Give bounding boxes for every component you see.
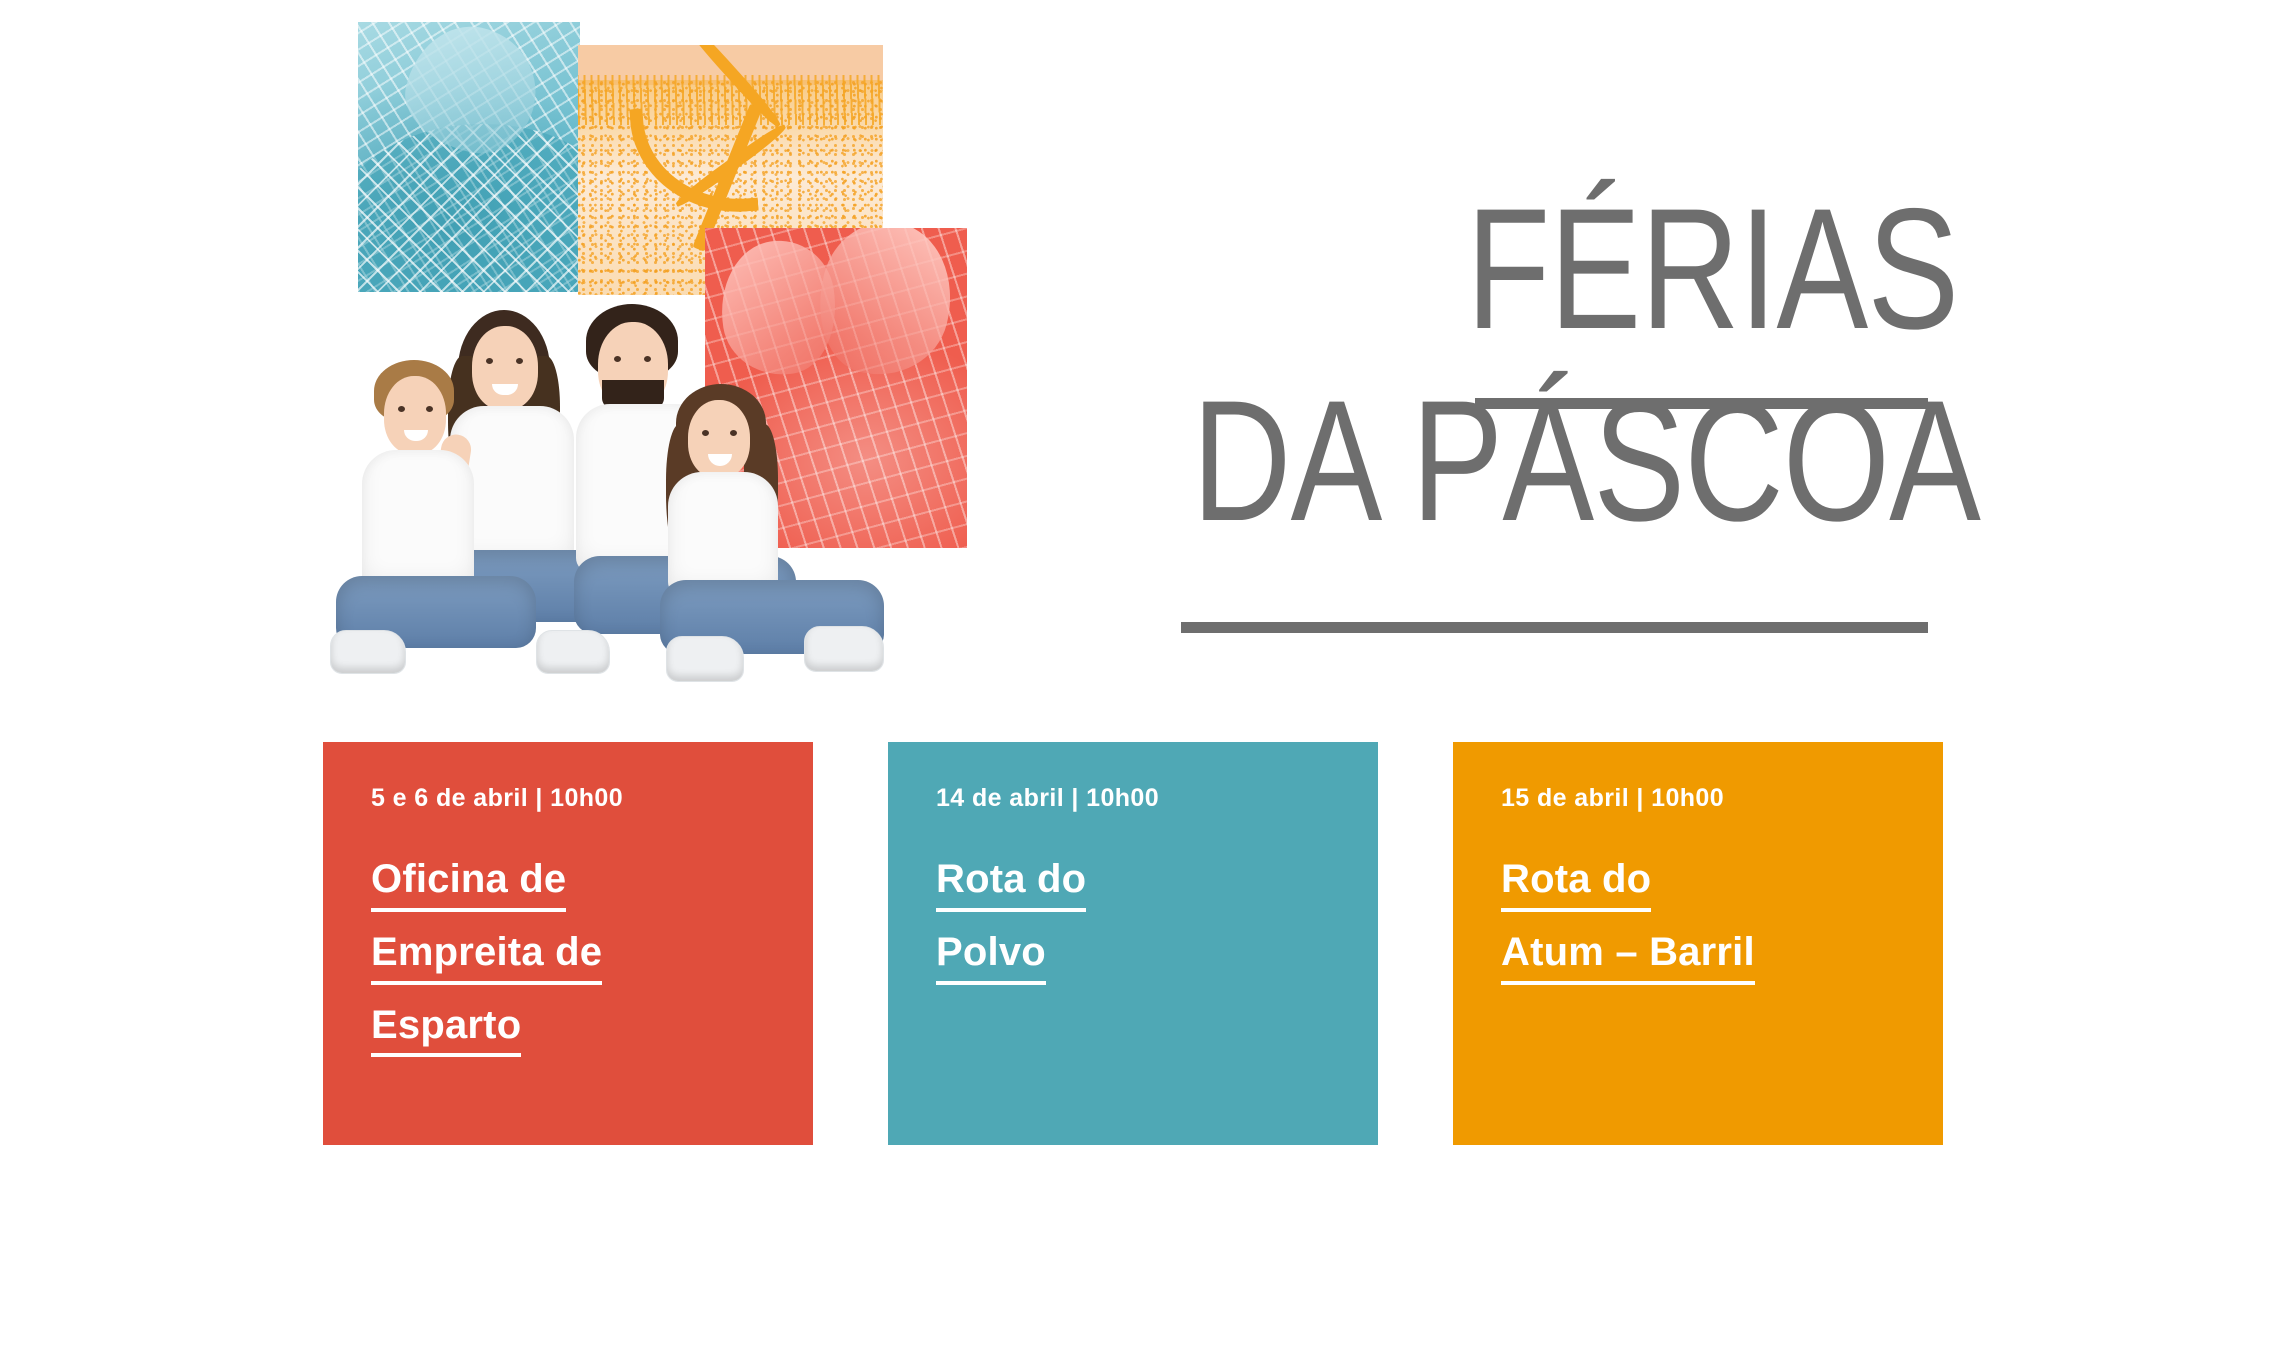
title-underline-2 — [1181, 622, 1928, 633]
event-title-line: Rota do — [936, 857, 1086, 912]
event-title: Oficina de Empreita de Esparto — [371, 857, 813, 1057]
event-title-line: Polvo — [936, 930, 1046, 985]
eye-right — [644, 356, 651, 362]
torso-shirt — [362, 450, 474, 590]
torso-shirt — [668, 472, 778, 596]
event-title-line: Oficina de — [371, 857, 566, 912]
event-title-line: Empreita de — [371, 930, 602, 985]
event-date: 14 de abril | 10h00 — [936, 784, 1378, 813]
eye-left — [614, 356, 621, 362]
event-date: 5 e 6 de abril | 10h00 — [371, 784, 813, 813]
shoe-right — [804, 626, 884, 672]
shoe-right — [536, 630, 610, 674]
event-title: Rota do Atum – Barril — [1501, 857, 1943, 985]
event-title-line: Atum – Barril — [1501, 930, 1755, 985]
shoe-left — [330, 630, 406, 674]
shoe-left — [666, 636, 744, 682]
head — [472, 326, 538, 410]
event-cards: 5 e 6 de abril | 10h00 Oficina de Emprei… — [0, 742, 2293, 1145]
title-underline-1 — [1475, 398, 1928, 409]
footer-logos: Organização: Cofinanciado por: município… — [0, 1160, 2293, 1360]
event-title-line: Esparto — [371, 1003, 521, 1058]
eye-right — [730, 430, 737, 436]
head — [688, 400, 750, 478]
event-card-rota-atum-barril[interactable]: 15 de abril | 10h00 Rota do Atum – Barri… — [1453, 742, 1943, 1145]
title-line-ferias: FÉRIAS — [1192, 190, 1960, 348]
image-collage — [0, 0, 1000, 760]
eye-right — [516, 358, 523, 364]
poster-canvas: FÉRIAS DA PÁSCOA 5 e 6 de abril | 10h00 … — [0, 0, 2293, 1363]
eye-left — [486, 358, 493, 364]
event-card-rota-polvo[interactable]: 14 de abril | 10h00 Rota do Polvo — [888, 742, 1378, 1145]
family-photo — [330, 300, 900, 750]
basket-weaving-photo — [358, 22, 580, 292]
event-title: Rota do Polvo — [936, 857, 1378, 985]
event-title-line: Rota do — [1501, 857, 1651, 912]
eye-right — [426, 406, 433, 412]
eye-left — [398, 406, 405, 412]
event-card-oficina-esparto[interactable]: 5 e 6 de abril | 10h00 Oficina de Emprei… — [323, 742, 813, 1145]
event-date: 15 de abril | 10h00 — [1501, 784, 1943, 813]
poster-title: FÉRIAS DA PÁSCOA — [1000, 190, 1960, 540]
head — [384, 376, 446, 454]
eye-left — [702, 430, 709, 436]
